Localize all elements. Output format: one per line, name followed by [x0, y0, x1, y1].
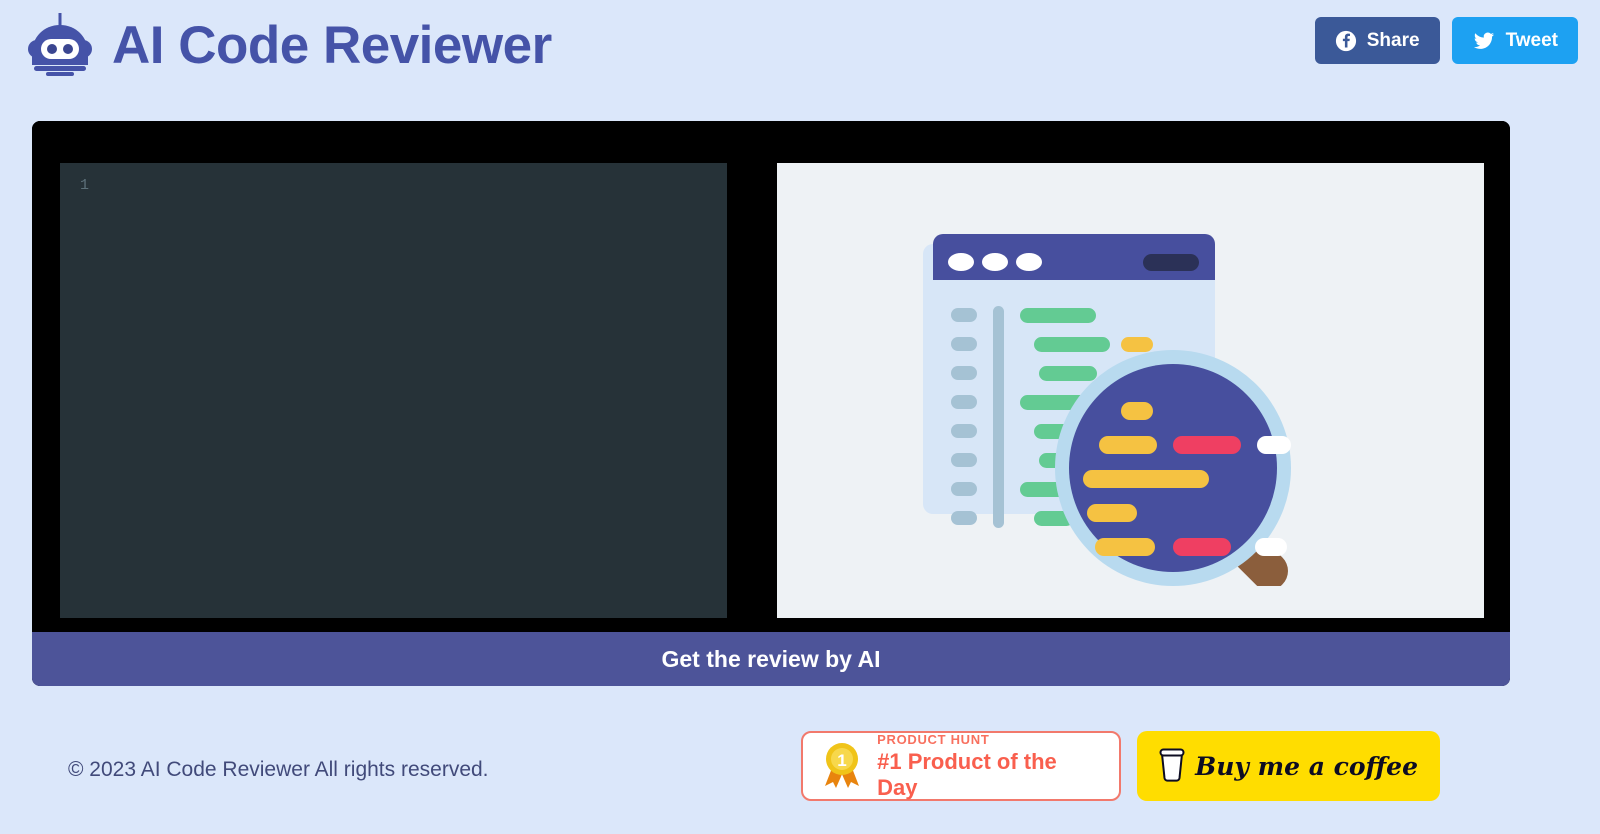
brand[interactable]: AI Code Reviewer — [24, 11, 552, 79]
share-buttons: Share Tweet — [1315, 17, 1578, 64]
medal-icon: 1 — [821, 740, 863, 793]
facebook-share-label: Share — [1367, 30, 1420, 52]
panel-body: 1 — [32, 121, 1510, 632]
twitter-tweet-label: Tweet — [1506, 30, 1558, 52]
buy-me-a-coffee-button[interactable]: Buy me a coffee — [1137, 731, 1440, 801]
product-hunt-badge[interactable]: 1 PRODUCT HUNT #1 Product of the Day — [801, 731, 1121, 801]
product-hunt-kicker: PRODUCT HUNT — [877, 732, 1101, 747]
twitter-icon — [1472, 30, 1496, 52]
copyright-text: © 2023 AI Code Reviewer All rights reser… — [68, 758, 489, 782]
facebook-icon — [1335, 30, 1357, 52]
get-review-button[interactable]: Get the review by AI — [32, 632, 1510, 686]
app-page: AI Code Reviewer Share Tweet — [0, 0, 1600, 834]
footer-badges: 1 PRODUCT HUNT #1 Product of the Day Buy… — [801, 731, 1440, 801]
buy-me-a-coffee-label: Buy me a coffee — [1195, 752, 1418, 781]
code-input[interactable] — [104, 177, 721, 612]
editor-line-number: 1 — [80, 177, 89, 194]
twitter-tweet-button[interactable]: Tweet — [1452, 17, 1578, 64]
app-footer: © 2023 AI Code Reviewer All rights reser… — [0, 686, 1600, 834]
app-header: AI Code Reviewer Share Tweet — [0, 0, 1600, 90]
product-hunt-title: #1 Product of the Day — [877, 749, 1101, 801]
review-preview-panel — [777, 163, 1484, 618]
svg-text:1: 1 — [837, 751, 846, 770]
facebook-share-button[interactable]: Share — [1315, 17, 1440, 64]
robot-icon — [24, 11, 96, 79]
code-review-magnifier-illustration — [921, 196, 1341, 586]
main-panel: 1 — [32, 121, 1510, 686]
code-editor[interactable]: 1 — [60, 163, 727, 618]
page-title: AI Code Reviewer — [112, 19, 552, 72]
coffee-cup-icon — [1159, 748, 1185, 785]
